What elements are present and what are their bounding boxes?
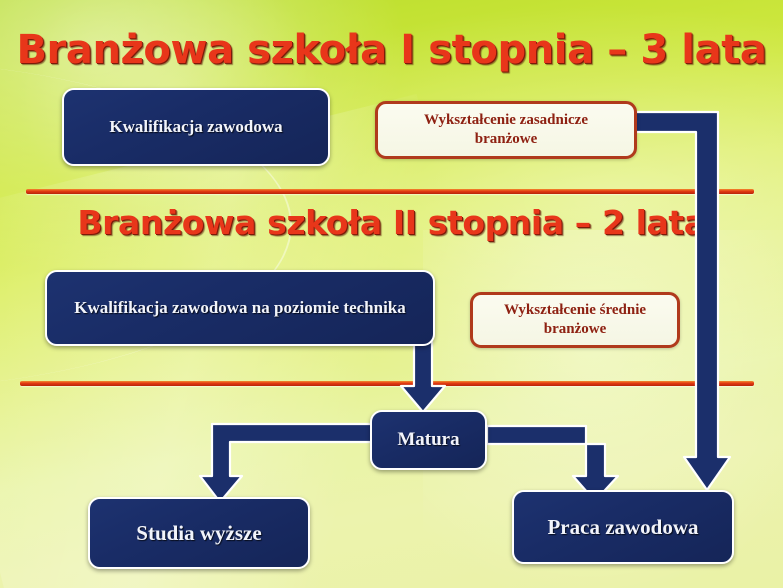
box-kwalifikacja-zawodowa-na-poziomie-technika[interactable]: Kwalifikacja zawodowa na poziomie techni…	[45, 270, 435, 346]
box-wyksztalcenie-srednie-branzowe[interactable]: Wykształcenie średnie branżowe	[470, 292, 680, 348]
box-praca-zawodowa-label: Praca zawodowa	[547, 515, 698, 539]
slide-canvas: Branżowa szkoła I stopnia – 3 lata Branż…	[0, 0, 783, 588]
box-wyksztalcenie-srednie-label: Wykształcenie średnie branżowe	[504, 301, 646, 339]
box-praca-zawodowa[interactable]: Praca zawodowa	[512, 490, 734, 564]
box-wyksztalcenie-srednie-line2: branżowe	[544, 321, 607, 337]
box-matura-label: Matura	[397, 429, 459, 451]
connector-technika-to-matura-arrow	[399, 342, 457, 414]
box-matura[interactable]: Matura	[370, 410, 487, 470]
box-kwalifikacja-zawodowa-label: Kwalifikacja zawodowa	[109, 117, 282, 137]
box-wyksztalcenie-zasadnicze-line2: branżowe	[475, 131, 538, 147]
box-wyksztalcenie-zasadnicze-line1: Wykształcenie zasadnicze	[424, 112, 588, 128]
box-kwalifikacja-technika-label: Kwalifikacja zawodowa na poziomie techni…	[74, 298, 406, 318]
box-wyksztalcenie-srednie-line1: Wykształcenie średnie	[504, 302, 646, 318]
box-wyksztalcenie-zasadnicze-branzowe[interactable]: Wykształcenie zasadnicze branżowe	[375, 101, 637, 159]
connector-matura-to-studia-arrow	[200, 424, 380, 504]
heading-branzowa-szkola-i-stopnia: Branżowa szkoła I stopnia – 3 lata	[0, 27, 783, 73]
box-studia-wyzsze[interactable]: Studia wyższe	[88, 497, 310, 569]
section-divider-bottom	[20, 381, 754, 386]
box-wyksztalcenie-zasadnicze-label: Wykształcenie zasadnicze branżowe	[424, 111, 588, 149]
box-kwalifikacja-zawodowa[interactable]: Kwalifikacja zawodowa	[62, 88, 330, 166]
heading-branzowa-szkola-ii-stopnia: Branżowa szkoła II stopnia – 2 lata	[0, 203, 783, 242]
section-divider-top	[26, 189, 754, 194]
box-studia-wyzsze-label: Studia wyższe	[136, 521, 261, 545]
